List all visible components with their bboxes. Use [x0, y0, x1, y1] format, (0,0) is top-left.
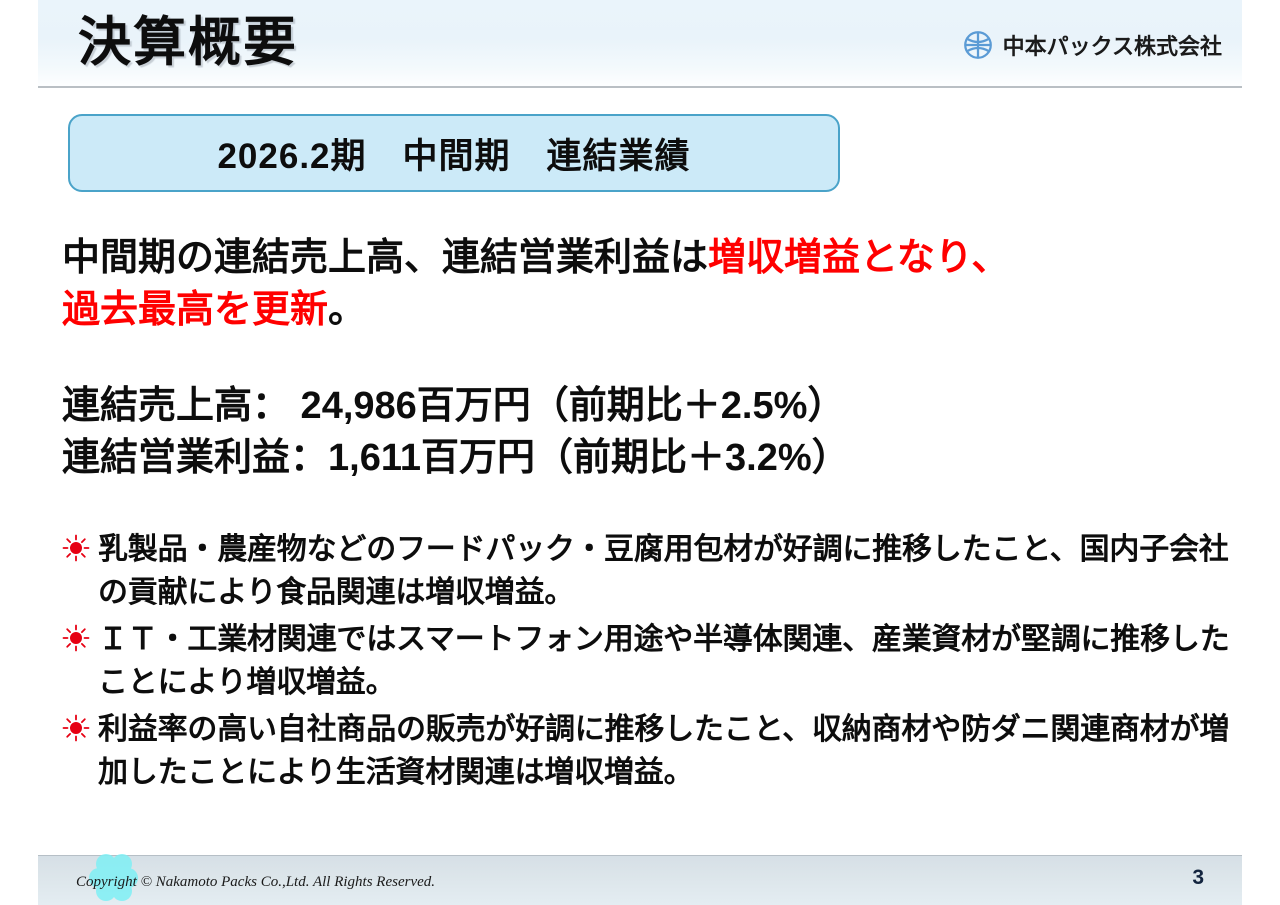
slide: 決算概要 中本パックス株式会社 2026.2期 中間期 連結業績 中間期の連結売…	[0, 0, 1280, 905]
copyright-text: Copyright © Nakamoto Packs Co.,Ltd. All …	[76, 874, 435, 891]
key-figures: 連結売上高： 24,986百万円（前期比＋2.5%） 連結営業利益：1,611百…	[62, 380, 1222, 484]
list-item-text: 利益率の高い自社商品の販売が好調に推移したこと、収納商材や防ダニ関連商材が増加し…	[98, 713, 1229, 789]
lead-line-1-highlight: 増収増益となり、	[708, 237, 1009, 279]
lead-statement: 中間期の連結売上高、連結営業利益は増収増益となり、 過去最高を更新。	[62, 232, 1222, 336]
list-item-text: ＩＴ・工業材関連ではスマートフォン用途や半導体関連、産業資材が堅調に推移したこと…	[98, 623, 1230, 699]
red-sun-icon	[62, 714, 90, 742]
lead-line-2-highlight: 過去最高を更新	[62, 289, 328, 331]
lead-line-1: 中間期の連結売上高、連結営業利益は増収増益となり、	[62, 232, 1222, 284]
list-item: 利益率の高い自社商品の販売が好調に推移したこと、収納商材や防ダニ関連商材が増加し…	[62, 708, 1247, 794]
page-title: 決算概要	[78, 8, 298, 78]
consolidated-sales-line: 連結売上高： 24,986百万円（前期比＋2.5%）	[62, 380, 1222, 432]
page-number: 3	[1192, 866, 1204, 890]
bullet-list: 乳製品・農産物などのフードパック・豆腐用包材が好調に推移したこと、国内子会社の貢…	[62, 528, 1247, 798]
lead-line-1-black: 中間期の連結売上高、連結営業利益は	[62, 237, 708, 279]
lead-line-2: 過去最高を更新。	[62, 284, 1222, 336]
consolidated-operating-profit-line: 連結営業利益：1,611百万円（前期比＋3.2%）	[62, 432, 1222, 484]
slide-footer: Copyright © Nakamoto Packs Co.,Ltd. All …	[38, 855, 1242, 905]
list-item: 乳製品・農産物などのフードパック・豆腐用包材が好調に推移したこと、国内子会社の貢…	[62, 528, 1247, 614]
list-item: ＩＴ・工業材関連ではスマートフォン用途や半導体関連、産業資材が堅調に推移したこと…	[62, 618, 1247, 704]
red-sun-icon	[62, 624, 90, 652]
lead-line-2-black: 。	[328, 289, 366, 331]
list-item-text: 乳製品・農産物などのフードパック・豆腐用包材が好調に推移したこと、国内子会社の貢…	[98, 533, 1229, 609]
red-sun-icon	[62, 534, 90, 562]
company-name: 中本パックス株式会社	[1003, 29, 1222, 61]
nakamoto-globe-icon	[963, 30, 993, 60]
section-title-text: 2026.2期 中間期 連結業績	[217, 128, 690, 179]
section-title-box: 2026.2期 中間期 連結業績	[68, 114, 840, 192]
company-logo: 中本パックス株式会社	[963, 29, 1222, 61]
slide-header: 決算概要 中本パックス株式会社	[38, 0, 1242, 88]
